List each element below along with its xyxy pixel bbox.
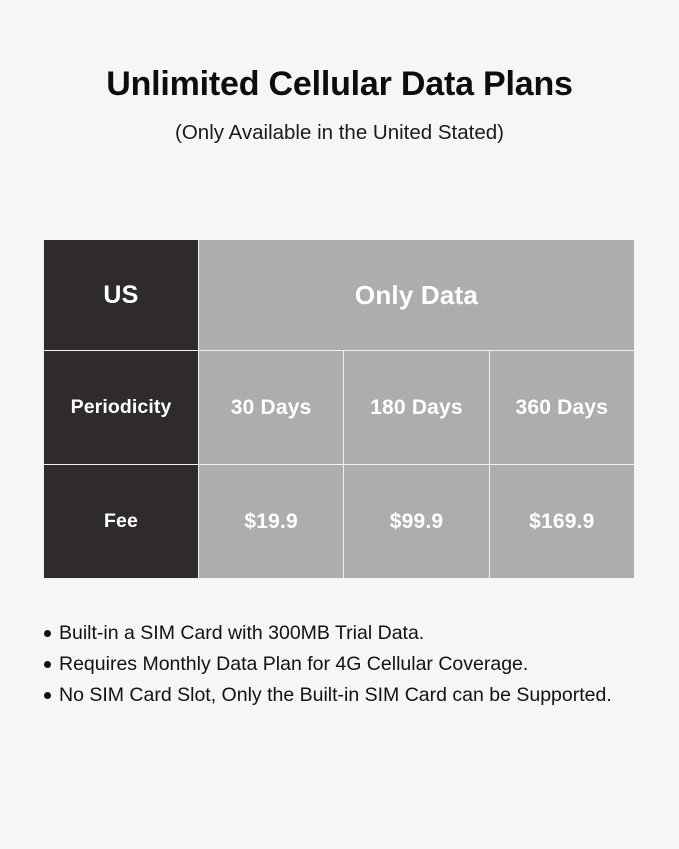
row-label-fee: Fee [44, 465, 199, 579]
cell-fee-3: $169.9 [489, 465, 634, 579]
bullet-icon [44, 661, 51, 668]
cell-region-label: US [44, 240, 199, 351]
list-item: No SIM Card Slot, Only the Built-in SIM … [43, 680, 643, 710]
bullet-icon [44, 630, 51, 637]
note-text: Requires Monthly Data Plan for 4G Cellul… [59, 653, 528, 675]
row-label-periodicity: Periodicity [44, 351, 199, 465]
notes-list: Built-in a SIM Card with 300MB Trial Dat… [43, 618, 643, 711]
cell-periodicity-2: 180 Days [344, 351, 489, 465]
bullet-icon [44, 692, 51, 699]
cell-periodicity-3: 360 Days [489, 351, 634, 465]
page-subtitle: (Only Available in the United Stated) [0, 120, 679, 146]
page-title: Unlimited Cellular Data Plans [0, 64, 679, 104]
note-text: Built-in a SIM Card with 300MB Trial Dat… [59, 622, 424, 644]
table-row-fee: Fee $19.9 $99.9 $169.9 [44, 465, 635, 579]
data-plan-table: US Only Data Periodicity 30 Days 180 Day… [43, 239, 635, 579]
note-text: No SIM Card Slot, Only the Built-in SIM … [59, 684, 612, 706]
list-item: Built-in a SIM Card with 300MB Trial Dat… [43, 618, 643, 648]
heading-block: Unlimited Cellular Data Plans (Only Avai… [0, 64, 679, 146]
cell-fee-2: $99.9 [344, 465, 489, 579]
cell-plan-type: Only Data [199, 240, 635, 351]
list-item: Requires Monthly Data Plan for 4G Cellul… [43, 649, 643, 679]
cell-periodicity-1: 30 Days [199, 351, 344, 465]
table-row-header: US Only Data [44, 240, 635, 351]
cell-fee-1: $19.9 [199, 465, 344, 579]
plan-sheet: Unlimited Cellular Data Plans (Only Avai… [0, 0, 679, 849]
table-row-periodicity: Periodicity 30 Days 180 Days 360 Days [44, 351, 635, 465]
